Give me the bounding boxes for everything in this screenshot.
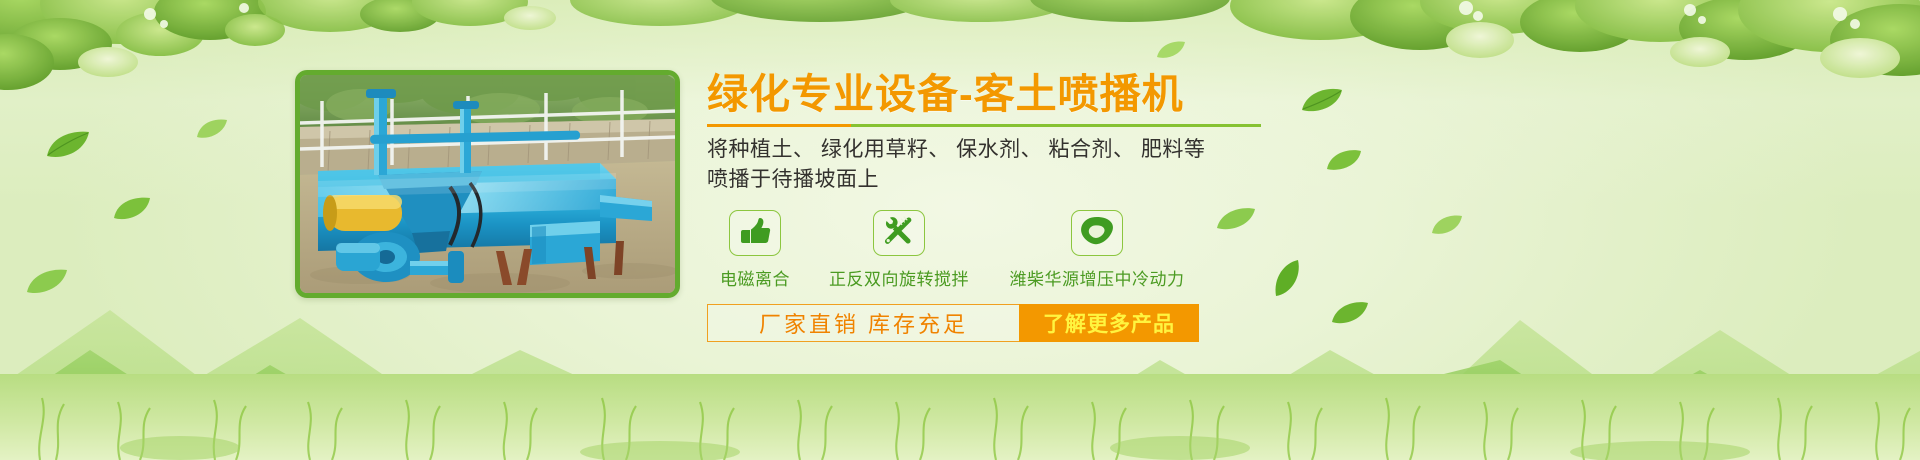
floating-leaf-icon xyxy=(1272,258,1302,303)
learn-more-button[interactable]: 了解更多产品 xyxy=(1019,304,1199,342)
cta-slogan: 厂家直销 库存充足 xyxy=(707,304,1019,342)
feature-label: 潍柴华源增压中冷动力 xyxy=(997,265,1197,290)
product-photo xyxy=(295,70,680,298)
feature-item-electromagnetic-clutch: 电磁离合 xyxy=(707,210,803,290)
floating-leaf-icon xyxy=(1330,300,1370,331)
floating-leaf-icon xyxy=(1155,40,1187,65)
thumbs-up-icon xyxy=(739,217,771,250)
feature-item-bidirectional-stirring: 正反双向旋转搅拌 xyxy=(811,210,987,290)
feature-item-weichai-power: 潍柴华源增压中冷动力 xyxy=(997,210,1197,290)
feature-icon-box xyxy=(1071,210,1123,256)
floating-leaf-icon xyxy=(1430,214,1464,241)
subtitle-line-1: 将种植土、 绿化用草籽、 保水剂、 粘合剂、 肥料等 xyxy=(707,136,1267,164)
feature-list: 电磁离合 xyxy=(707,210,1267,290)
subtitle-line-2: 喷播于待播坡面上 xyxy=(707,166,1267,194)
floating-leaf-icon xyxy=(1325,148,1363,177)
promo-banner: 绿化专业设备-客土喷播机 将种植土、 绿化用草籽、 保水剂、 粘合剂、 肥料等 … xyxy=(0,0,1920,460)
title-divider xyxy=(707,124,1261,127)
floating-leaf-icon xyxy=(195,118,229,145)
grass-foreground xyxy=(0,340,1920,460)
feature-label: 正反双向旋转搅拌 xyxy=(811,265,987,290)
tools-wrench-screwdriver-icon xyxy=(883,216,915,251)
page-title: 绿化专业设备-客土喷播机 xyxy=(707,68,1267,120)
engine-gear-icon xyxy=(1080,216,1114,251)
banner-content: 绿化专业设备-客土喷播机 将种植土、 绿化用草籽、 保水剂、 粘合剂、 肥料等 … xyxy=(707,68,1267,342)
floating-leaf-icon xyxy=(25,268,69,301)
cta-row: 厂家直销 库存充足 了解更多产品 xyxy=(707,304,1199,342)
floating-leaf-icon xyxy=(1300,86,1344,119)
feature-label: 电磁离合 xyxy=(707,265,803,290)
feature-icon-box xyxy=(873,210,925,256)
floating-leaf-icon xyxy=(112,196,152,227)
floating-leaf-icon xyxy=(45,130,91,165)
feature-icon-box xyxy=(729,210,781,256)
